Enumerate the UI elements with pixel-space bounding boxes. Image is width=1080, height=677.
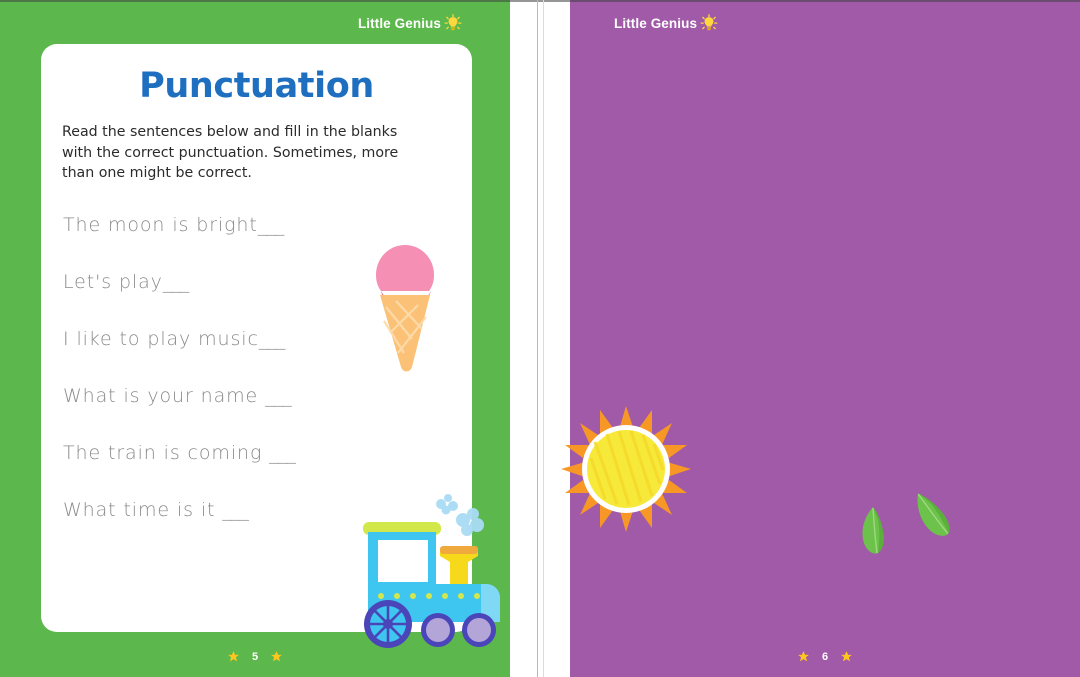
leaf-illustration — [857, 505, 889, 562]
scan-edge-line — [510, 0, 570, 2]
lightbulb-icon — [444, 14, 462, 33]
sentence-text: I like to play music — [63, 328, 259, 350]
fold-line-shadow — [543, 0, 544, 677]
brand-name: Little Genius — [614, 16, 697, 31]
answer-blank[interactable]: ___ — [259, 328, 285, 350]
worksheet-sentence[interactable]: I like to play music___ — [63, 328, 393, 350]
answer-blank[interactable]: ___ — [222, 499, 248, 521]
sentence-text: The moon is bright — [63, 214, 258, 236]
leaf-illustration — [903, 483, 962, 552]
scan-edge-line — [0, 0, 510, 2]
left-page-footer: 5 — [0, 650, 510, 663]
worksheet-sentence[interactable]: What is your name ___ — [63, 385, 393, 407]
page-gutter — [510, 0, 570, 677]
answer-blank[interactable]: ___ — [258, 214, 284, 236]
star-icon — [227, 650, 240, 663]
page-number: 5 — [252, 651, 258, 663]
star-icon — [840, 650, 853, 663]
sentence-text: Let's play — [63, 271, 163, 293]
answer-blank[interactable]: ___ — [269, 442, 295, 464]
sentence-text: What is your name — [63, 385, 265, 407]
right-page: Little Genius — [570, 0, 1080, 677]
page-number: 6 — [822, 651, 828, 663]
sentence-text: The train is coming — [63, 442, 269, 464]
brand-name: Little Genius — [358, 16, 441, 31]
answer-blank[interactable]: ___ — [163, 271, 189, 293]
worksheet-sentence[interactable]: The train is coming ___ — [63, 442, 393, 464]
right-page-footer: 6 — [570, 650, 1080, 663]
worksheet-sentence[interactable]: The moon is bright___ — [63, 214, 393, 236]
brand-logo-right: Little Genius — [614, 14, 718, 33]
scan-edge-line — [570, 0, 1080, 2]
fold-line — [537, 0, 538, 677]
sun-illustration — [559, 404, 694, 539]
ice-cream-cone-illustration — [346, 229, 464, 379]
worksheet-sentence[interactable]: Let's play___ — [63, 271, 393, 293]
lightbulb-icon — [700, 14, 718, 33]
left-worksheet-card: Punctuation Read the sentences below and… — [41, 44, 472, 632]
instructions-text: Read the sentences below and fill in the… — [62, 122, 422, 184]
sentence-text: What time is it — [63, 499, 222, 521]
star-icon — [797, 650, 810, 663]
brand-logo-left: Little Genius — [358, 14, 462, 33]
star-icon — [270, 650, 283, 663]
left-page: Little Genius — [0, 0, 510, 677]
train-illustration — [341, 484, 506, 659]
workbook-spread: Little Genius — [0, 0, 1080, 677]
answer-blank[interactable]: ___ — [265, 385, 291, 407]
page-title: Punctuation — [41, 66, 472, 106]
